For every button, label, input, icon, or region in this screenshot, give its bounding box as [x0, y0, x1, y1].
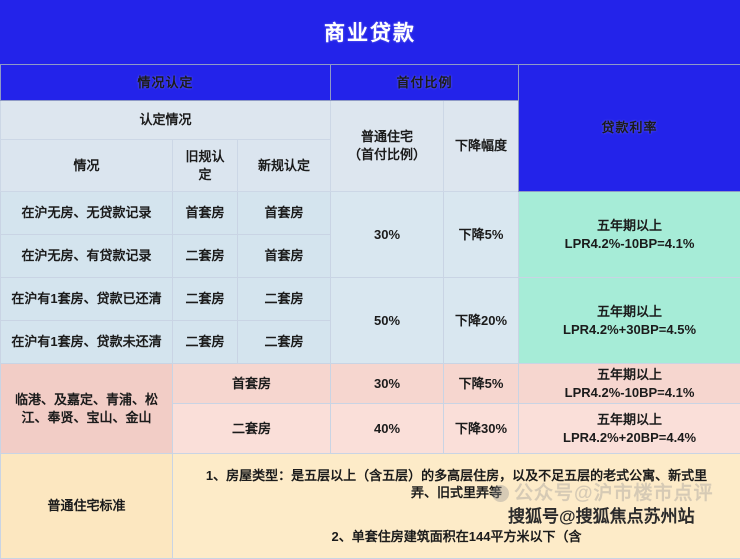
cell-old-rule: 二套房: [173, 278, 238, 321]
cell-decrease: 下降5%: [444, 364, 519, 404]
cell-new-rule: 二套房: [238, 321, 331, 364]
cell-downpayment: 40%: [331, 404, 444, 454]
standard-note-2: 2、单套住房建筑面积在144平方米以下（含: [176, 528, 737, 546]
cell-loan-rate-line1: 五年期以上: [522, 411, 737, 429]
cell-new-rule: 首套房: [238, 235, 331, 278]
cell-new-rule: 二套房: [238, 278, 331, 321]
header-group-downpayment: 首付比例: [331, 65, 519, 101]
cell-loan-rate: 五年期以上 LPR4.2%+30BP=4.5%: [519, 278, 740, 364]
standard-note-1-line2: 弄、旧式里弄等: [176, 484, 737, 502]
table-row-suburb: 临港、及嘉定、青浦、松江、奉贤、宝山、金山 首套房 30% 下降5% 五年期以上…: [1, 364, 740, 404]
cell-loan-rate: 五年期以上 LPR4.2%-10BP=4.1%: [519, 364, 740, 404]
cell-loan-rate-line1: 五年期以上: [522, 366, 737, 384]
cell-loan-rate-line2: LPR4.2%-10BP=4.1%: [522, 235, 737, 253]
header-decrease: 下降幅度: [444, 101, 519, 192]
cell-loan-rate-line1: 五年期以上: [522, 217, 737, 235]
cell-old-rule: 首套房: [173, 192, 238, 235]
cell-standard-label: 普通住宅标准: [1, 454, 173, 559]
cell-house-type: 二套房: [173, 404, 331, 454]
cell-loan-rate-line1: 五年期以上: [522, 303, 737, 321]
cell-loan-rate-line2: LPR4.2%-10BP=4.1%: [522, 384, 737, 402]
header-old-rule-line1: 旧规认: [176, 148, 234, 166]
standard-note-1-line1: 1、房屋类型：是五层以上（含五层）的多高层住房，以及不足五层的老式公寓、新式里: [176, 467, 737, 485]
header-new-rule: 新规认定: [238, 140, 331, 192]
cell-situation: 在沪有1套房、贷款未还清: [1, 321, 173, 364]
cell-decrease: 下降20%: [444, 278, 519, 364]
cell-downpayment: 30%: [331, 192, 444, 278]
page-title: 商业贷款: [324, 17, 416, 47]
cell-loan-rate: 五年期以上 LPR4.2%-10BP=4.1%: [519, 192, 740, 278]
cell-loan-rate-line2: LPR4.2%+20BP=4.4%: [522, 429, 737, 447]
header-old-rule: 旧规认 定: [173, 140, 238, 192]
header-recognition: 认定情况: [1, 101, 331, 140]
cell-old-rule: 二套房: [173, 235, 238, 278]
table-row: 在沪无房、无贷款记录 首套房 首套房 30% 下降5% 五年期以上 LPR4.2…: [1, 192, 740, 235]
table-row: 在沪有1套房、贷款已还清 二套房 二套房 50% 下降20% 五年期以上 LPR…: [1, 278, 740, 321]
cell-downpayment: 30%: [331, 364, 444, 404]
policy-table-container: 情况认定 首付比例 贷款利率 认定情况 普通住宅 （首付比例） 下降幅度 情况: [0, 64, 740, 533]
cell-standard-notes: 1、房屋类型：是五层以上（含五层）的多高层住房，以及不足五层的老式公寓、新式里 …: [173, 454, 740, 559]
title-banner: 商业贷款: [0, 0, 740, 64]
cell-suburb-districts: 临港、及嘉定、青浦、松江、奉贤、宝山、金山: [1, 364, 173, 454]
cell-downpayment: 50%: [331, 278, 444, 364]
loan-policy-infographic: 商业贷款 情况认定 首付比例 贷款利率 认定情况 普通住宅: [0, 0, 740, 533]
header-old-rule-line2: 定: [176, 166, 234, 184]
cell-new-rule: 首套房: [238, 192, 331, 235]
header-group-situation: 情况认定: [1, 65, 331, 101]
cell-loan-rate: 五年期以上 LPR4.2%+20BP=4.4%: [519, 404, 740, 454]
cell-loan-rate-line2: LPR4.2%+30BP=4.5%: [522, 321, 737, 339]
header-ordinary-home-line1: 普通住宅: [334, 128, 440, 146]
header-loan-rate: 贷款利率: [519, 65, 740, 192]
header-situation: 情况: [1, 140, 173, 192]
cell-decrease: 下降5%: [444, 192, 519, 278]
cell-house-type: 首套房: [173, 364, 331, 404]
cell-situation: 在沪无房、无贷款记录: [1, 192, 173, 235]
cell-situation: 在沪有1套房、贷款已还清: [1, 278, 173, 321]
cell-decrease: 下降30%: [444, 404, 519, 454]
table-header-row-1: 情况认定 首付比例 贷款利率: [1, 65, 740, 101]
table-row-standard: 普通住宅标准 1、房屋类型：是五层以上（含五层）的多高层住房，以及不足五层的老式…: [1, 454, 740, 559]
cell-old-rule: 二套房: [173, 321, 238, 364]
header-ordinary-home-line2: （首付比例）: [334, 146, 440, 164]
header-ordinary-home: 普通住宅 （首付比例）: [331, 101, 444, 192]
cell-situation: 在沪无房、有贷款记录: [1, 235, 173, 278]
policy-table: 情况认定 首付比例 贷款利率 认定情况 普通住宅 （首付比例） 下降幅度 情况: [0, 64, 740, 559]
